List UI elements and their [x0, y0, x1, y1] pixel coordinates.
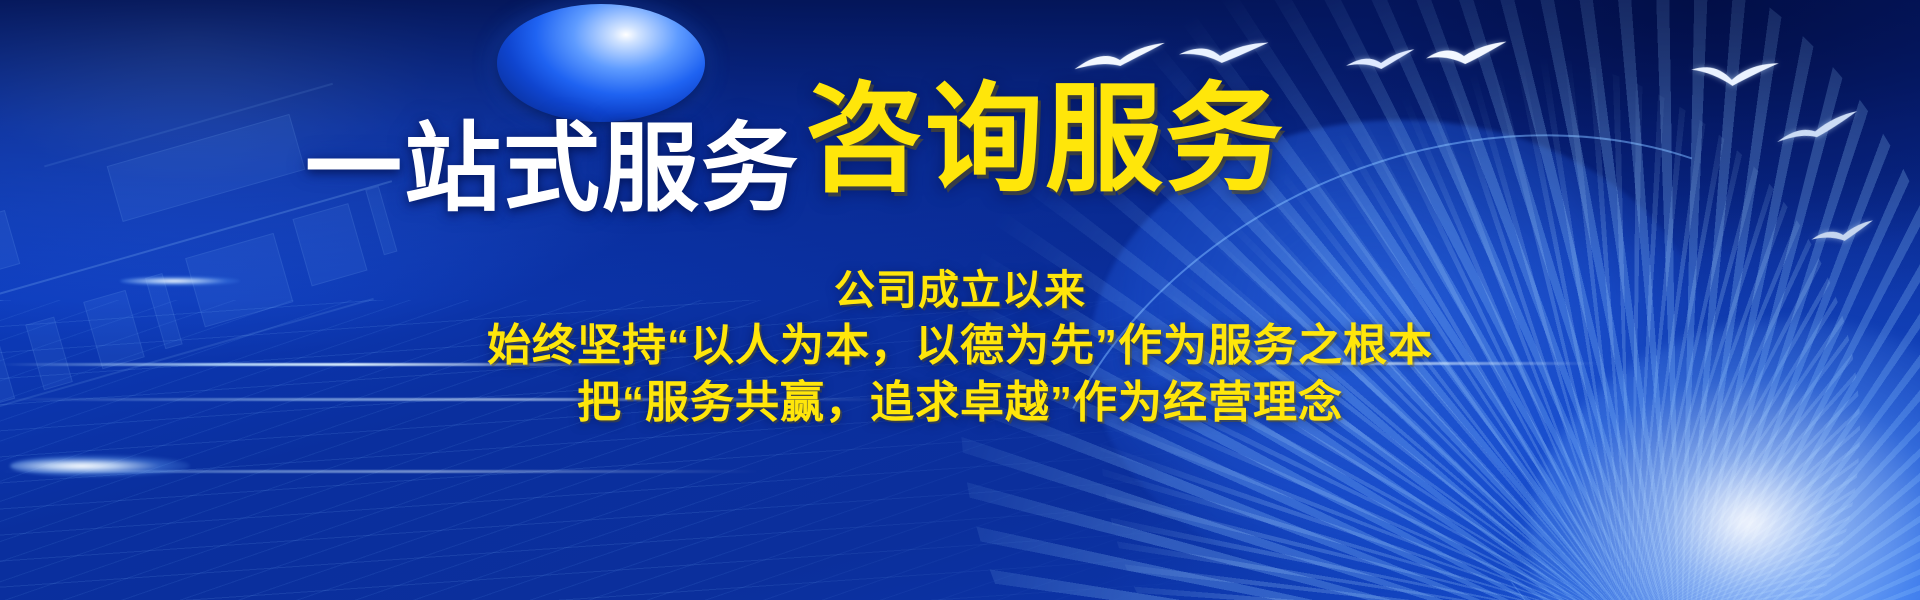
light-streak-2	[0, 398, 900, 401]
promo-banner: 一站式服务 咨询服务 公司成立以来 始终坚持“以人为本，以德为先”作为服务之根本…	[0, 0, 1920, 600]
light-streak-4	[1180, 362, 1600, 365]
seagull-icon-5	[1689, 58, 1781, 95]
seagull-icon-4	[1425, 41, 1510, 74]
light-streak-1	[0, 363, 640, 366]
seagull-icon-3	[1344, 48, 1417, 78]
lens-flare-icon	[10, 455, 190, 477]
tech-streaks-decoration	[0, 300, 1250, 600]
lens-flare-small-icon	[120, 276, 240, 286]
seagull-icon-1	[1071, 41, 1169, 82]
seagull-icon-2	[1177, 38, 1270, 73]
glossy-sphere-decoration	[497, 4, 705, 122]
